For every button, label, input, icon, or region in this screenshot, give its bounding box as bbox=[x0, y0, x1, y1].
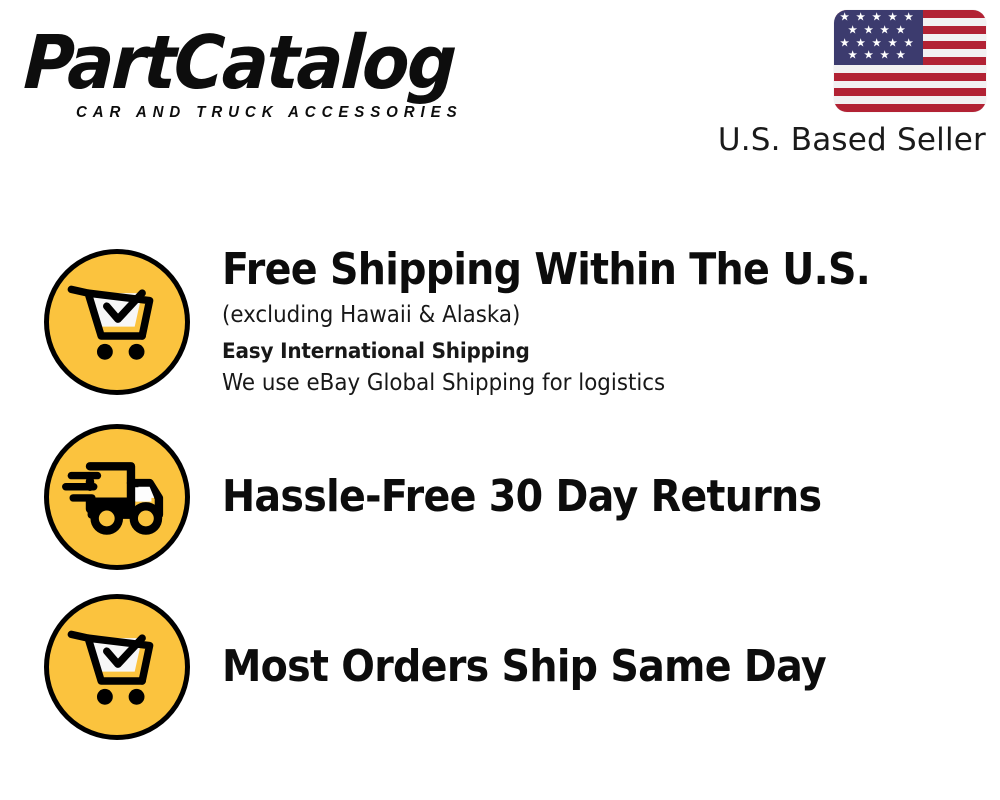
flag-stripe bbox=[834, 81, 986, 89]
flag-stripe bbox=[834, 65, 986, 73]
benefit-heading: Most Orders Ship Same Day bbox=[222, 642, 922, 692]
flag-stripe bbox=[834, 73, 986, 81]
logo-wordmark: PartCatalog bbox=[22, 24, 463, 102]
flag-stripe bbox=[834, 96, 986, 104]
benefits-list: Free Shipping Within The U.S. (excluding… bbox=[0, 232, 1000, 752]
benefit-row: Most Orders Ship Same Day bbox=[0, 582, 1000, 752]
us-flag-icon: ★ ★ ★ ★ ★ ★ ★ ★ ★ ★ ★ ★ ★ ★ ★ ★ ★ ★ bbox=[834, 10, 986, 112]
benefit-subline: (excluding Hawaii & Alaska) bbox=[222, 299, 946, 331]
benefit-text: Free Shipping Within The U.S. (excluding… bbox=[222, 245, 1000, 399]
benefit-subline: Easy International Shipping bbox=[222, 336, 946, 367]
benefit-row: Hassle-Free 30 Day Returns bbox=[0, 412, 1000, 582]
flag-stripe bbox=[834, 104, 986, 112]
benefit-text: Hassle-Free 30 Day Returns bbox=[222, 472, 1000, 522]
us-based-seller-badge: ★ ★ ★ ★ ★ ★ ★ ★ ★ ★ ★ ★ ★ ★ ★ ★ ★ ★ U.S.… bbox=[718, 10, 986, 158]
benefit-heading: Free Shipping Within The U.S. bbox=[222, 245, 922, 295]
shopping-cart-check-icon bbox=[44, 594, 190, 740]
benefit-heading: Hassle-Free 30 Day Returns bbox=[222, 472, 922, 522]
shopping-cart-check-icon bbox=[44, 249, 190, 395]
seller-badge-label: U.S. Based Seller bbox=[718, 122, 986, 158]
flag-canton: ★ ★ ★ ★ ★ ★ ★ ★ ★ ★ ★ ★ ★ ★ ★ ★ ★ ★ bbox=[834, 10, 923, 65]
flag-stripe bbox=[834, 88, 986, 96]
benefit-subline: We use eBay Global Shipping for logistic… bbox=[222, 367, 946, 399]
page-header: PartCatalog CAR AND TRUCK ACCESSORIES ★ … bbox=[0, 0, 1000, 175]
delivery-truck-icon bbox=[44, 424, 190, 570]
logo-tagline: CAR AND TRUCK ACCESSORIES bbox=[76, 104, 483, 122]
benefit-text: Most Orders Ship Same Day bbox=[222, 642, 1000, 692]
benefit-row: Free Shipping Within The U.S. (excluding… bbox=[0, 232, 1000, 412]
brand-logo[interactable]: PartCatalog CAR AND TRUCK ACCESSORIES bbox=[26, 24, 496, 122]
